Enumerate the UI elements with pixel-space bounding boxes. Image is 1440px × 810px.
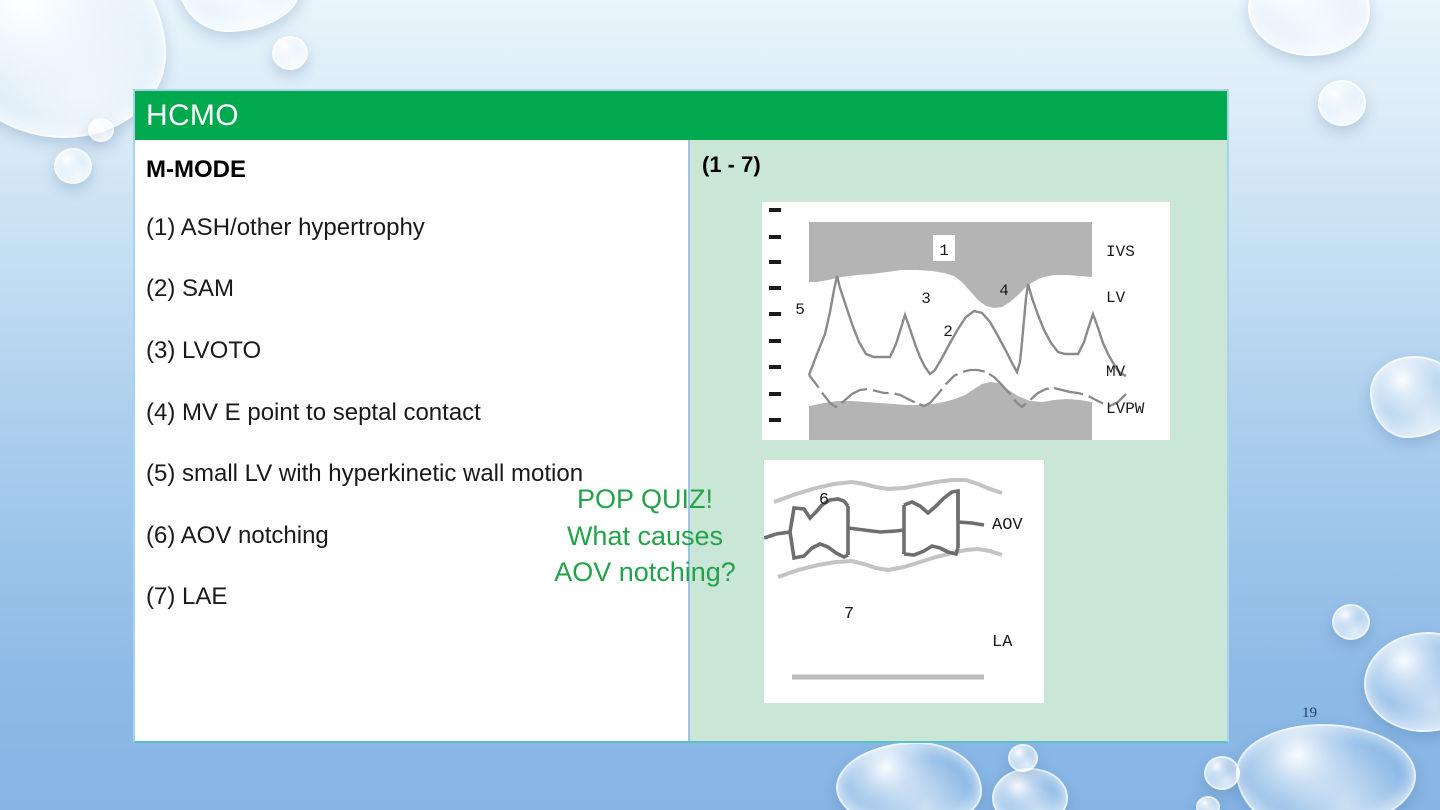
list-item: (1) ASH/other hypertrophy	[146, 214, 674, 242]
water-droplet-icon	[178, 0, 302, 32]
list-item: (3) LVOTO	[146, 337, 674, 365]
water-droplet-icon	[1236, 724, 1416, 810]
figure-range-heading: (1 - 7)	[702, 154, 1227, 176]
list-item: (6) AOV notching	[146, 522, 674, 550]
label-lvpw: LVPW	[1106, 400, 1145, 418]
slide-title-bar: HCMO	[135, 91, 1227, 140]
list-item: (7) LAE	[146, 583, 674, 611]
m-mode-echo-figure: 1 2 3 4 5 IVS LV MV LVPW	[762, 202, 1170, 440]
list-item: (5) small LV with hyperkinetic wall moti…	[146, 460, 674, 488]
list-item: (2) SAM	[146, 275, 674, 303]
water-droplet-icon	[1248, 0, 1370, 56]
list-item: (4) MV E point to septal contact	[146, 399, 674, 427]
label-aov: AOV	[992, 516, 1023, 535]
water-droplet-icon	[1370, 356, 1440, 438]
left-text-column: M-MODE (1) ASH/other hypertrophy (2) SAM…	[135, 140, 690, 741]
water-droplet-icon	[1008, 744, 1038, 772]
water-droplet-icon	[54, 148, 92, 184]
water-droplet-icon	[1364, 632, 1440, 732]
water-droplet-icon	[836, 742, 982, 810]
label-mv: MV	[1106, 363, 1126, 381]
aov-la-figure: 6 7 AOV LA	[764, 460, 1044, 703]
water-droplet-icon	[992, 768, 1068, 810]
water-droplet-icon	[1318, 80, 1366, 126]
label-la: LA	[992, 633, 1013, 652]
label-ivs: IVS	[1106, 243, 1135, 261]
callout-2: 2	[943, 323, 953, 341]
water-droplet-icon	[1204, 756, 1240, 790]
page-number: 19	[1302, 705, 1317, 722]
m-mode-heading: M-MODE	[146, 156, 674, 184]
callout-4: 4	[999, 282, 1009, 300]
label-lv: LV	[1106, 289, 1126, 307]
callout-1: 1	[939, 242, 949, 260]
water-droplet-icon	[88, 118, 114, 142]
water-droplet-icon	[272, 36, 308, 70]
slide-content-frame: HCMO M-MODE (1) ASH/other hypertrophy (2…	[133, 89, 1229, 743]
page-title: HCMO	[146, 101, 239, 131]
callout-6: 6	[819, 491, 829, 510]
callout-3: 3	[921, 290, 931, 308]
callout-7: 7	[844, 605, 854, 624]
callout-5: 5	[795, 301, 805, 319]
slide-canvas: HCMO M-MODE (1) ASH/other hypertrophy (2…	[0, 0, 1440, 810]
water-droplet-icon	[1332, 604, 1370, 640]
water-droplet-icon	[1196, 796, 1220, 810]
